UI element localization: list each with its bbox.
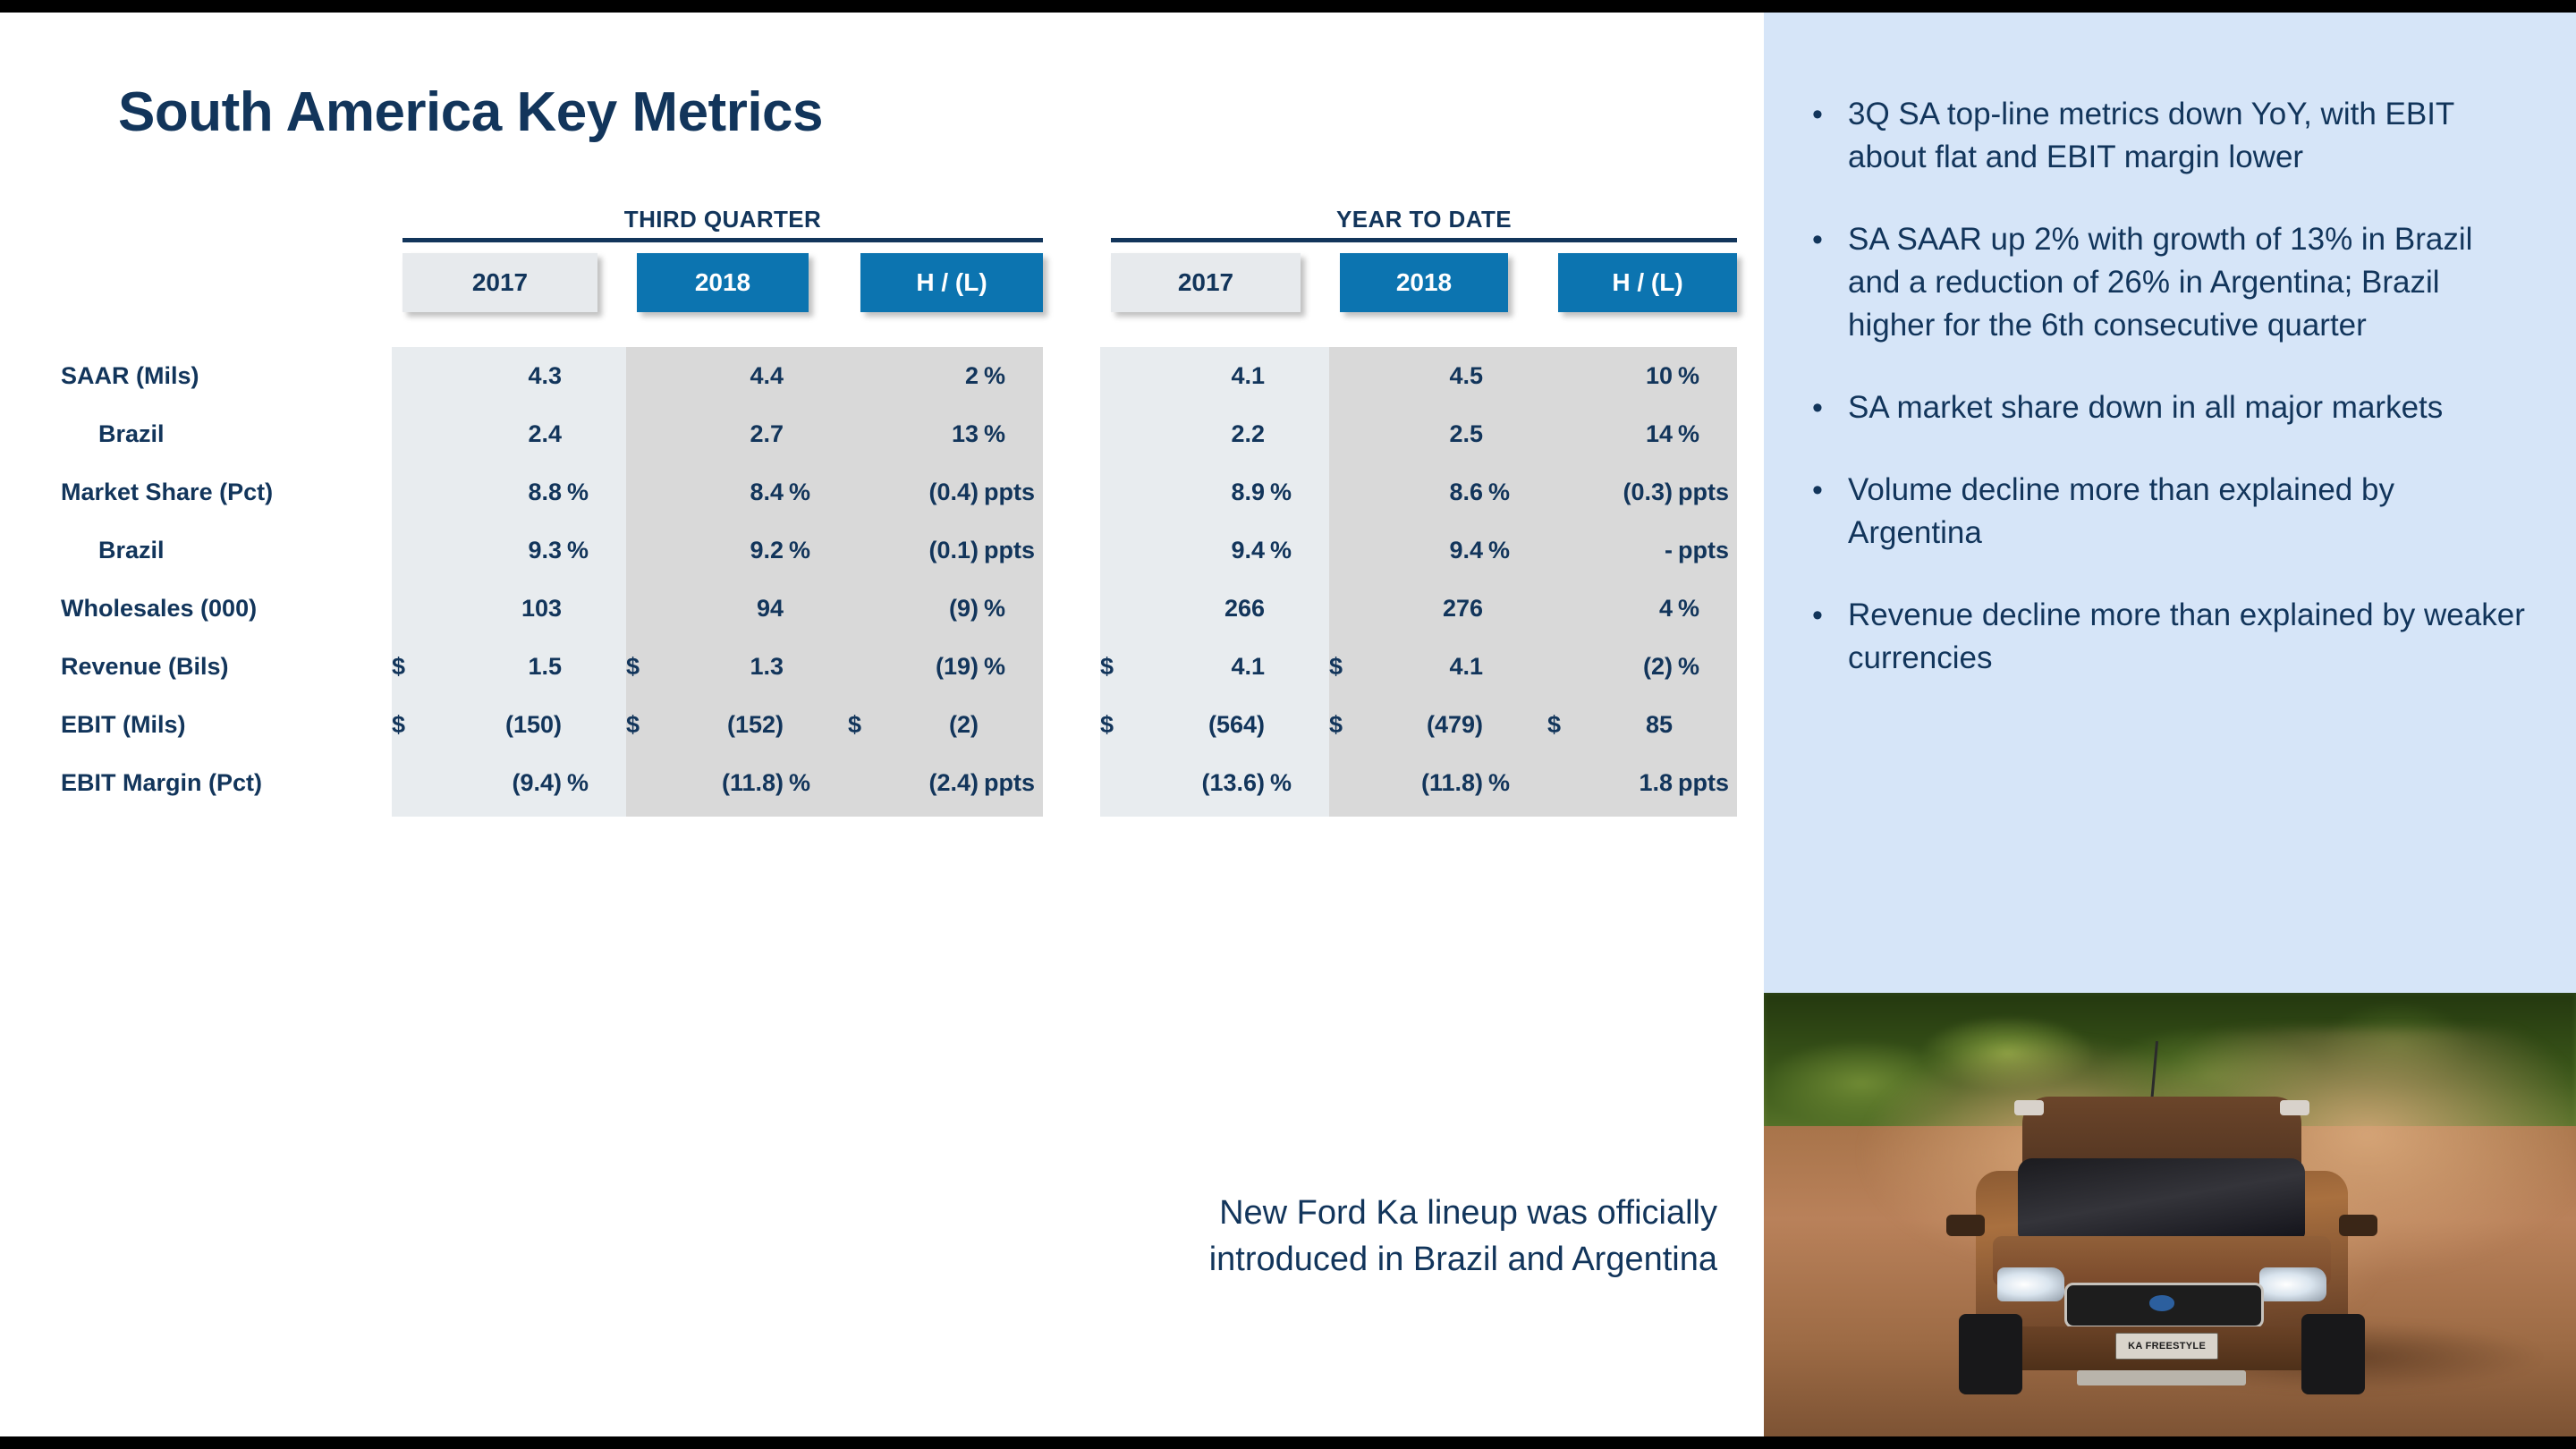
cell-ytd-hl: (2) % xyxy=(1547,638,1737,696)
bullet-icon: • xyxy=(1812,386,1848,429)
cell-q3-hl: (9) % xyxy=(848,580,1043,638)
cell-q3-2017: 9.3 % xyxy=(392,521,626,580)
cell-unit xyxy=(1270,696,1329,754)
cell-value: 8.6 xyxy=(1349,463,1483,521)
cell-value: 2.5 xyxy=(1349,405,1483,463)
cell-unit: % xyxy=(1678,638,1737,696)
cell-q3-2018: $ (152) xyxy=(626,696,848,754)
table-row: Revenue (Bils) $ 1.5 $ 1.3 (19) % $ 4.1 xyxy=(0,638,1764,696)
cell-ytd-hl: 1.8 ppts xyxy=(1547,754,1737,812)
bullet-text: Volume decline more than explained by Ar… xyxy=(1848,469,2528,555)
cell-ytd-2017: (13.6) % xyxy=(1100,754,1329,812)
cell-value: 1.8 xyxy=(1538,754,1673,812)
cell-unit: % xyxy=(567,521,626,580)
currency-symbol xyxy=(1100,405,1131,463)
ford-badge-icon xyxy=(2149,1295,2174,1310)
cell-unit: % xyxy=(984,638,1043,696)
cell-unit xyxy=(789,638,848,696)
column-header-ytd-2017[interactable]: 2017 xyxy=(1111,253,1301,312)
table-row: EBIT (Mils) $ (150) $ (152) $ (2) $ (564… xyxy=(0,696,1764,754)
cell-value: (564) xyxy=(1131,696,1265,754)
side-mirror-left xyxy=(1946,1215,1984,1236)
section-year-to-date: YEAR TO DATE 2017 2018 H / (L) xyxy=(1111,206,1737,326)
header-row-third-quarter: 2017 2018 H / (L) xyxy=(402,253,1043,326)
cell-ytd-2018: 2.5 xyxy=(1329,405,1547,463)
bullet-text: SA market share down in all major market… xyxy=(1848,386,2528,429)
cell-q3-2017: 2.4 xyxy=(392,405,626,463)
cell-ytd-2018: 8.6 % xyxy=(1329,463,1547,521)
cell-unit xyxy=(1270,638,1329,696)
cell-q3-2018: 9.2 % xyxy=(626,521,848,580)
cell-q3-hl: 13 % xyxy=(848,405,1043,463)
cell-value: (9) xyxy=(844,580,979,638)
cell-value: 13 xyxy=(844,405,979,463)
cell-value: (9.4) xyxy=(428,754,562,812)
cell-q3-2017: 4.3 xyxy=(392,347,626,405)
bullet-text: Revenue decline more than explained by w… xyxy=(1848,594,2528,680)
cell-value: 10 xyxy=(1538,347,1673,405)
cell-unit: % xyxy=(1678,405,1737,463)
photo-caption: New Ford Ka lineup was officially introd… xyxy=(1190,1190,1717,1283)
section-rule-year-to-date xyxy=(1111,238,1737,242)
list-item: • 3Q SA top-line metrics down YoY, with … xyxy=(1812,93,2528,179)
cell-value: 2.4 xyxy=(428,405,562,463)
cell-q3-2018: $ 1.3 xyxy=(626,638,848,696)
cell-q3-2017: $ 1.5 xyxy=(392,638,626,696)
currency-symbol xyxy=(392,405,422,463)
bullet-text: 3Q SA top-line metrics down YoY, with EB… xyxy=(1848,93,2528,179)
cell-unit: % xyxy=(984,405,1043,463)
cell-unit: ppts xyxy=(984,754,1043,812)
row-label: Market Share (Pct) xyxy=(61,463,365,521)
cell-unit: % xyxy=(789,754,848,812)
cell-unit xyxy=(789,696,848,754)
row-label: SAAR (Mils) xyxy=(61,347,365,405)
cell-value: 4.1 xyxy=(1349,638,1483,696)
row-label: Wholesales (000) xyxy=(61,580,365,638)
currency-symbol xyxy=(1100,463,1131,521)
cell-value: 4 xyxy=(1538,580,1673,638)
cell-unit xyxy=(984,696,1043,754)
cell-ytd-hl: 10 % xyxy=(1547,347,1737,405)
cell-unit xyxy=(789,347,848,405)
cell-q3-hl: $ (2) xyxy=(848,696,1043,754)
cell-q3-2018: 2.7 xyxy=(626,405,848,463)
currency-symbol xyxy=(392,463,422,521)
cell-unit xyxy=(567,638,626,696)
cell-q3-2018: (11.8) % xyxy=(626,754,848,812)
table-row: Brazil 9.3 % 9.2 % (0.1) ppts 9.4 % xyxy=(0,521,1764,580)
cell-unit: % xyxy=(1270,463,1329,521)
list-item: • SA market share down in all major mark… xyxy=(1812,386,2528,429)
cell-value: 4.1 xyxy=(1131,347,1265,405)
currency-symbol: $ xyxy=(392,638,422,696)
headlight-left xyxy=(1997,1267,2065,1301)
cell-value: 2 xyxy=(844,347,979,405)
column-header-q3-hl[interactable]: H / (L) xyxy=(860,253,1043,312)
cell-q3-2017: 103 xyxy=(392,580,626,638)
wheel-right xyxy=(2301,1314,2365,1394)
commentary-panel: • 3Q SA top-line metrics down YoY, with … xyxy=(1764,13,2576,993)
cell-value: (2.4) xyxy=(844,754,979,812)
column-header-q3-2017[interactable]: 2017 xyxy=(402,253,597,312)
currency-symbol xyxy=(1100,754,1131,812)
cell-value: 85 xyxy=(1538,696,1673,754)
cell-value: 9.4 xyxy=(1131,521,1265,580)
cell-ytd-2017: $ 4.1 xyxy=(1100,638,1329,696)
cell-value: 4.4 xyxy=(649,347,784,405)
cell-ytd-2018: $ (479) xyxy=(1329,696,1547,754)
list-item: • SA SAAR up 2% with growth of 13% in Br… xyxy=(1812,218,2528,347)
cell-unit xyxy=(567,580,626,638)
cell-unit: % xyxy=(1270,754,1329,812)
wheel-left xyxy=(1959,1314,2022,1394)
cell-ytd-hl: 4 % xyxy=(1547,580,1737,638)
cell-q3-2017: $ (150) xyxy=(392,696,626,754)
cell-value: 276 xyxy=(1349,580,1483,638)
cell-value: (11.8) xyxy=(1349,754,1483,812)
bullet-icon: • xyxy=(1812,594,1848,680)
cell-q3-2018: 8.4 % xyxy=(626,463,848,521)
cell-unit: ppts xyxy=(984,463,1043,521)
cell-ytd-2018: 4.5 xyxy=(1329,347,1547,405)
cell-unit: ppts xyxy=(1678,754,1737,812)
table-row: Market Share (Pct) 8.8 % 8.4 % (0.4) ppt… xyxy=(0,463,1764,521)
cell-unit: ppts xyxy=(1678,521,1737,580)
page-title: South America Key Metrics xyxy=(118,80,823,144)
row-label: Revenue (Bils) xyxy=(61,638,365,696)
cell-value: (152) xyxy=(649,696,784,754)
cell-q3-2017: (9.4) % xyxy=(392,754,626,812)
cell-value: 4.3 xyxy=(428,347,562,405)
cell-unit: % xyxy=(567,463,626,521)
cell-unit: % xyxy=(1270,521,1329,580)
cell-value: (150) xyxy=(428,696,562,754)
cell-unit: % xyxy=(1678,580,1737,638)
cell-value: (19) xyxy=(844,638,979,696)
cell-value: 103 xyxy=(428,580,562,638)
currency-symbol xyxy=(1100,580,1131,638)
windshield xyxy=(2018,1158,2305,1239)
bullet-icon: • xyxy=(1812,469,1848,555)
cell-value: - xyxy=(1538,521,1673,580)
cell-ytd-2017: 9.4 % xyxy=(1100,521,1329,580)
cell-value: 9.2 xyxy=(649,521,784,580)
cell-value: 2.2 xyxy=(1131,405,1265,463)
cell-value: (2) xyxy=(844,696,979,754)
cell-ytd-2018: 9.4 % xyxy=(1329,521,1547,580)
cell-unit xyxy=(1678,696,1737,754)
cell-value: (13.6) xyxy=(1131,754,1265,812)
currency-symbol xyxy=(392,347,422,405)
cell-ytd-2017: 2.2 xyxy=(1100,405,1329,463)
column-header-q3-2018[interactable]: 2018 xyxy=(637,253,809,312)
cell-value: 9.4 xyxy=(1349,521,1483,580)
cell-ytd-2018: (11.8) % xyxy=(1329,754,1547,812)
cell-value: 8.8 xyxy=(428,463,562,521)
cell-q3-hl: (0.4) ppts xyxy=(848,463,1043,521)
cell-ytd-hl: 14 % xyxy=(1547,405,1737,463)
cell-unit xyxy=(789,405,848,463)
cell-ytd-2017: $ (564) xyxy=(1100,696,1329,754)
cell-ytd-hl: $ 85 xyxy=(1547,696,1737,754)
cell-ytd-hl: - ppts xyxy=(1547,521,1737,580)
cell-ytd-2017: 4.1 xyxy=(1100,347,1329,405)
cell-unit: % xyxy=(789,521,848,580)
top-black-bar xyxy=(0,0,2576,13)
cell-value: 14 xyxy=(1538,405,1673,463)
currency-symbol xyxy=(392,754,422,812)
cell-unit xyxy=(1270,405,1329,463)
cell-unit xyxy=(567,405,626,463)
cell-q3-hl: 2 % xyxy=(848,347,1043,405)
skid-plate xyxy=(2077,1370,2246,1385)
cell-value: 4.5 xyxy=(1349,347,1483,405)
cell-value: (0.4) xyxy=(844,463,979,521)
currency-symbol xyxy=(1100,347,1131,405)
cell-unit: % xyxy=(984,347,1043,405)
currency-symbol: $ xyxy=(1100,696,1131,754)
currency-symbol xyxy=(1100,521,1131,580)
license-plate: KA FREESTYLE xyxy=(2115,1333,2218,1360)
row-label: Brazil xyxy=(98,405,402,463)
bullet-icon: • xyxy=(1812,93,1848,179)
list-item: • Revenue decline more than explained by… xyxy=(1812,594,2528,680)
cell-unit: ppts xyxy=(1678,463,1737,521)
cell-q3-2017: 8.8 % xyxy=(392,463,626,521)
vehicle-photo: KA FREESTYLE xyxy=(1764,993,2576,1436)
cell-value: (0.1) xyxy=(844,521,979,580)
cell-value: 8.9 xyxy=(1131,463,1265,521)
cell-ytd-2017: 8.9 % xyxy=(1100,463,1329,521)
table-row: Wholesales (000) 103 94 (9) % 266 xyxy=(0,580,1764,638)
metrics-rows: SAAR (Mils) 4.3 4.4 2 % 4.1 xyxy=(0,347,1764,812)
slide: South America Key Metrics THIRD QUARTER … xyxy=(0,0,2576,1449)
cell-ytd-2017: 266 xyxy=(1100,580,1329,638)
cell-unit: % xyxy=(789,463,848,521)
cell-value: 1.5 xyxy=(428,638,562,696)
header-row-year-to-date: 2017 2018 H / (L) xyxy=(1111,253,1737,326)
cell-value: 94 xyxy=(649,580,784,638)
headlight-right xyxy=(2259,1267,2327,1301)
cell-value: 1.3 xyxy=(649,638,784,696)
cell-value: 266 xyxy=(1131,580,1265,638)
cell-value: 4.1 xyxy=(1131,638,1265,696)
cell-unit xyxy=(1270,580,1329,638)
cell-q3-2018: 94 xyxy=(626,580,848,638)
section-third-quarter: THIRD QUARTER 2017 2018 H / (L) xyxy=(402,206,1043,326)
side-mirror-right xyxy=(2339,1215,2377,1236)
currency-symbol: $ xyxy=(1100,638,1131,696)
cell-value: (479) xyxy=(1349,696,1483,754)
cell-value: (0.3) xyxy=(1538,463,1673,521)
roof-rail-right xyxy=(2280,1100,2309,1115)
cell-unit: % xyxy=(984,580,1043,638)
table-row: EBIT Margin (Pct) (9.4) % (11.8) % (2.4)… xyxy=(0,754,1764,812)
cell-value: 2.7 xyxy=(649,405,784,463)
table-row: SAAR (Mils) 4.3 4.4 2 % 4.1 xyxy=(0,347,1764,405)
currency-symbol xyxy=(392,580,422,638)
cell-unit: % xyxy=(1678,347,1737,405)
section-title-year-to-date: YEAR TO DATE xyxy=(1111,206,1737,233)
bullet-text: SA SAAR up 2% with growth of 13% in Braz… xyxy=(1848,218,2528,347)
cell-ytd-2018: 276 xyxy=(1329,580,1547,638)
section-title-third-quarter: THIRD QUARTER xyxy=(402,206,1043,233)
row-label: Brazil xyxy=(98,521,402,580)
currency-symbol: $ xyxy=(392,696,422,754)
cell-unit xyxy=(789,580,848,638)
cell-unit: ppts xyxy=(984,521,1043,580)
cell-ytd-2018: $ 4.1 xyxy=(1329,638,1547,696)
cell-q3-hl: (2.4) ppts xyxy=(848,754,1043,812)
cell-q3-hl: (0.1) ppts xyxy=(848,521,1043,580)
table-row: Brazil 2.4 2.7 13 % 2.2 xyxy=(0,405,1764,463)
currency-symbol xyxy=(392,521,422,580)
cell-unit: % xyxy=(567,754,626,812)
ford-ka-freestyle-car: KA FREESTYLE xyxy=(1951,1090,2373,1401)
cell-q3-2018: 4.4 xyxy=(626,347,848,405)
cell-value: 9.3 xyxy=(428,521,562,580)
cell-value: (2) xyxy=(1538,638,1673,696)
cell-ytd-hl: (0.3) ppts xyxy=(1547,463,1737,521)
column-header-ytd-hl[interactable]: H / (L) xyxy=(1558,253,1737,312)
bottom-black-bar xyxy=(0,1436,2576,1449)
list-item: • Volume decline more than explained by … xyxy=(1812,469,2528,555)
cell-unit xyxy=(567,696,626,754)
cell-unit xyxy=(1270,347,1329,405)
cell-q3-hl: (19) % xyxy=(848,638,1043,696)
row-label: EBIT (Mils) xyxy=(61,696,365,754)
cell-unit xyxy=(567,347,626,405)
section-rule-third-quarter xyxy=(402,238,1043,242)
cell-value: 8.4 xyxy=(649,463,784,521)
column-header-ytd-2018[interactable]: 2018 xyxy=(1340,253,1508,312)
bullet-icon: • xyxy=(1812,218,1848,347)
cell-value: (11.8) xyxy=(649,754,784,812)
roof-rail-left xyxy=(2014,1100,2044,1115)
row-label: EBIT Margin (Pct) xyxy=(61,754,365,812)
